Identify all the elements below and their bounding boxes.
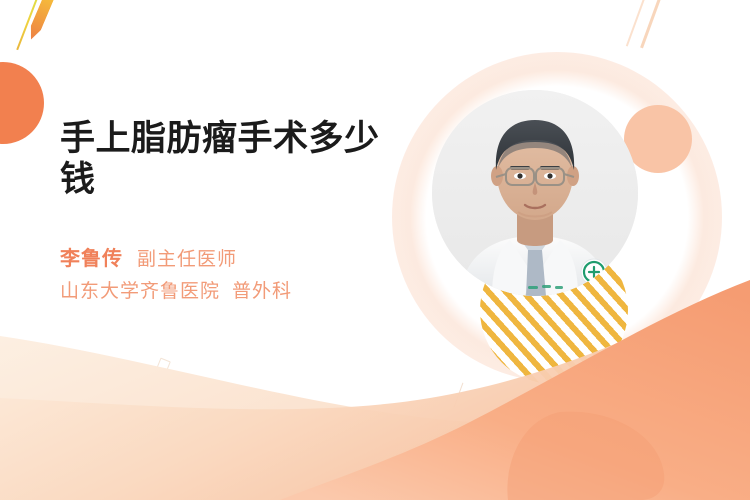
peach-circle-decoration <box>624 105 692 173</box>
doctor-job-title: 副主任医师 <box>137 245 237 275</box>
doctor-name-row: 李鲁传 副主任医师 <box>60 244 400 275</box>
peach-hairline-icon <box>640 0 667 48</box>
doctor-name: 李鲁传 <box>60 244 123 274</box>
doctor-hospital: 山东大学齐鲁医院 <box>60 275 220 309</box>
doctor-portrait <box>432 90 638 296</box>
peach-hairline-icon <box>626 0 648 47</box>
doctor-affiliation-row: 山东大学齐鲁医院 普外科 <box>60 275 400 309</box>
bottom-wave-decoration <box>0 280 750 500</box>
page-title: 手上脂肪瘤手术多少钱 <box>60 118 400 200</box>
doctor-byline: 李鲁传 副主任医师 山东大学齐鲁医院 普外科 <box>60 244 400 309</box>
doctor-department: 普外科 <box>232 277 292 307</box>
health-article-cover-card: 手上脂肪瘤手术多少钱 李鲁传 副主任医师 山东大学齐鲁医院 普外科 <box>0 0 750 500</box>
orange-diagonal-stroke-icon <box>26 0 61 42</box>
orange-circle-decoration <box>0 62 44 144</box>
text-content: 手上脂肪瘤手术多少钱 李鲁传 副主任医师 山东大学齐鲁医院 普外科 <box>60 118 400 309</box>
yellow-diagonal-line-icon <box>16 0 42 50</box>
